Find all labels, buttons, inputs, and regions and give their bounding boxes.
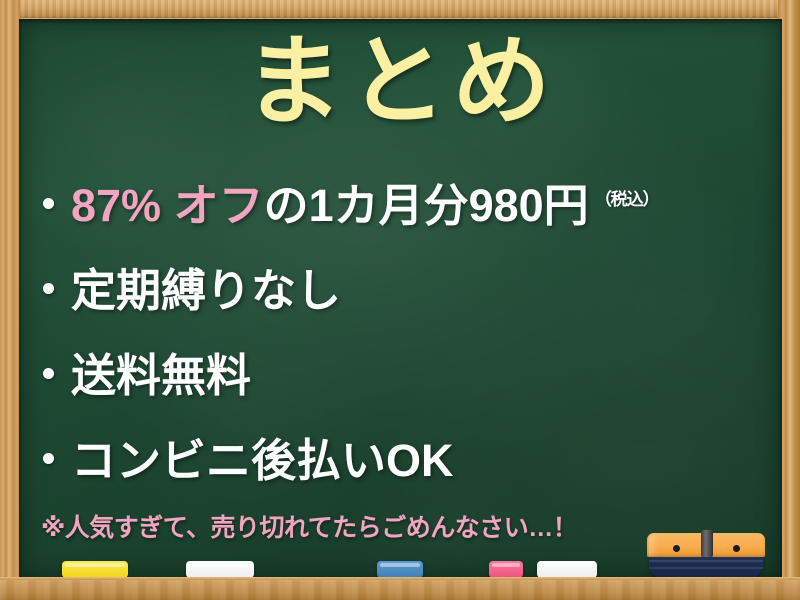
list-item-text-rest: 送料無料 (71, 350, 251, 401)
eraser-handle-strap (701, 530, 713, 557)
list-item-text: 定期縛りなし (71, 254, 341, 319)
bullet-dot-icon (43, 198, 54, 209)
eraser-rivet-right (733, 545, 740, 552)
chalkboard-surface: まとめ 87% オフの1カ月分980円（税込） 定期縛りなし 送料無料 (19, 19, 782, 578)
tax-included-note: （税込） (595, 190, 659, 209)
chalk-yellow (62, 561, 128, 578)
bullet-dot-icon (43, 453, 54, 464)
list-item-text: 87% オフの1カ月分980円（税込） (71, 169, 659, 234)
blackboard-eraser-icon (647, 533, 765, 578)
chalk-white-1 (186, 561, 254, 578)
list-item-text-rest: 定期縛りなし (71, 265, 341, 316)
page-title: まとめ (19, 25, 782, 138)
bullet-list: 87% オフの1カ月分980円（税込） 定期縛りなし 送料無料 コンビニ後払いO… (43, 169, 773, 509)
list-item-text: コンビニ後払いOK (71, 424, 454, 489)
list-item: 定期縛りなし (43, 254, 773, 339)
chalk-pink (489, 561, 523, 578)
list-item-text-rest: コンビニ後払いOK (71, 435, 454, 486)
list-item-text-highlight: 87% オフ (71, 180, 264, 231)
bullet-dot-icon (43, 283, 54, 294)
footnote-text: ※人気すぎて、売り切れてたらごめんなさい…！ (41, 508, 577, 544)
list-item-text-rest: の1カ月分980円 (264, 180, 589, 231)
eraser-highlight (649, 534, 659, 556)
list-item: コンビニ後払いOK (43, 424, 773, 509)
chalk-white-2 (537, 561, 597, 578)
list-item: 87% オフの1カ月分980円（税込） (43, 169, 773, 254)
chalk-tray-lip (0, 577, 800, 580)
eraser-rivet-left (673, 545, 680, 552)
chalkboard-slide: まとめ 87% オフの1カ月分980円（税込） 定期縛りなし 送料無料 (0, 0, 800, 600)
chalk-tray-ledge (0, 577, 800, 600)
list-item: 送料無料 (43, 339, 773, 424)
list-item-text: 送料無料 (71, 339, 251, 404)
chalk-blue (377, 561, 423, 578)
frame-top-grain (0, 0, 800, 18)
board-content: まとめ 87% オフの1カ月分980円（税込） 定期縛りなし 送料無料 (19, 19, 782, 578)
bullet-dot-icon (43, 368, 54, 379)
frame-left-grain (0, 0, 20, 600)
